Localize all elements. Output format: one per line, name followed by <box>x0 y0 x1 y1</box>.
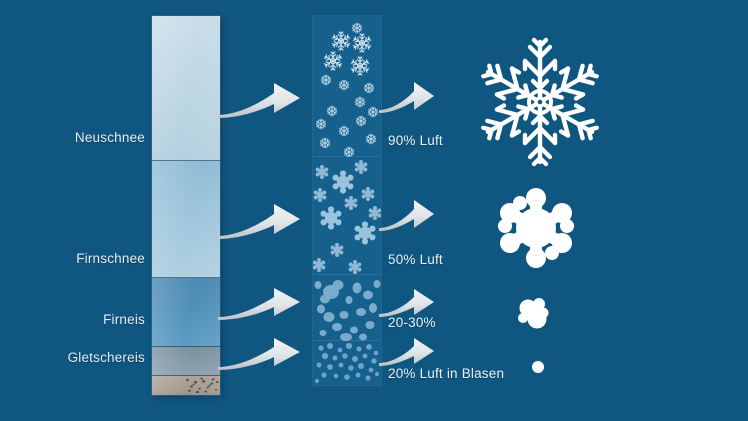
infographic-canvas: Neuschnee Firnschnee Firneis Gletscherei… <box>0 0 748 421</box>
texture-cell-gletschereis <box>313 341 381 385</box>
stage-label-firneis: Firneis <box>103 312 145 327</box>
coarse-blob-texture <box>313 275 381 341</box>
caption-gletschereis: 20% Luft in Blasen <box>388 366 504 381</box>
column-layer-firneis <box>152 278 220 347</box>
grain-cluster-icon <box>506 289 562 345</box>
snowflake-icon <box>472 34 608 170</box>
arrow-right-icon-panel-1 <box>378 78 438 118</box>
stage-label-firnschnee: Firnschnee <box>76 251 145 266</box>
layer-gloss <box>152 16 220 161</box>
caption-neuschnee: 90% Luft <box>388 133 443 148</box>
arrow-right-icon-panel-2 <box>378 196 438 236</box>
microstructure-panel <box>313 16 381 385</box>
bubble-icon <box>528 357 548 377</box>
texture-cell-firneis <box>313 275 381 341</box>
arrow-right-icon-column-4 <box>216 334 312 374</box>
column-layer-moraene <box>152 376 220 395</box>
rounded-grain-texture <box>313 157 381 275</box>
column-layer-gletschereis <box>152 347 220 376</box>
gravel-speckles <box>152 376 220 395</box>
arrow-right-icon-column-1 <box>216 76 312 122</box>
fine-dendrite-texture <box>313 16 381 157</box>
stage-label-gletschereis: Gletschereis <box>68 350 145 365</box>
arrow-right-icon-column-3 <box>216 284 312 324</box>
stage-label-neuschnee: Neuschnee <box>75 130 145 145</box>
arrow-right-icon-panel-4 <box>378 334 438 370</box>
snow-column <box>152 16 220 395</box>
column-layer-neuschnee <box>152 16 220 161</box>
texture-cell-firnschnee <box>313 157 381 275</box>
texture-cell-neuschnee <box>313 16 381 157</box>
layer-gloss <box>152 347 220 376</box>
column-layer-firnschnee <box>152 161 220 278</box>
air-bubble-texture <box>313 341 381 385</box>
rounded-snowflake-icon <box>486 182 586 274</box>
caption-firneis: 20-30% <box>388 315 436 330</box>
layer-gloss <box>152 161 220 278</box>
caption-firnschnee: 50% Luft <box>388 252 443 267</box>
layer-gloss <box>152 278 220 347</box>
arrow-right-icon-column-2 <box>216 197 312 243</box>
